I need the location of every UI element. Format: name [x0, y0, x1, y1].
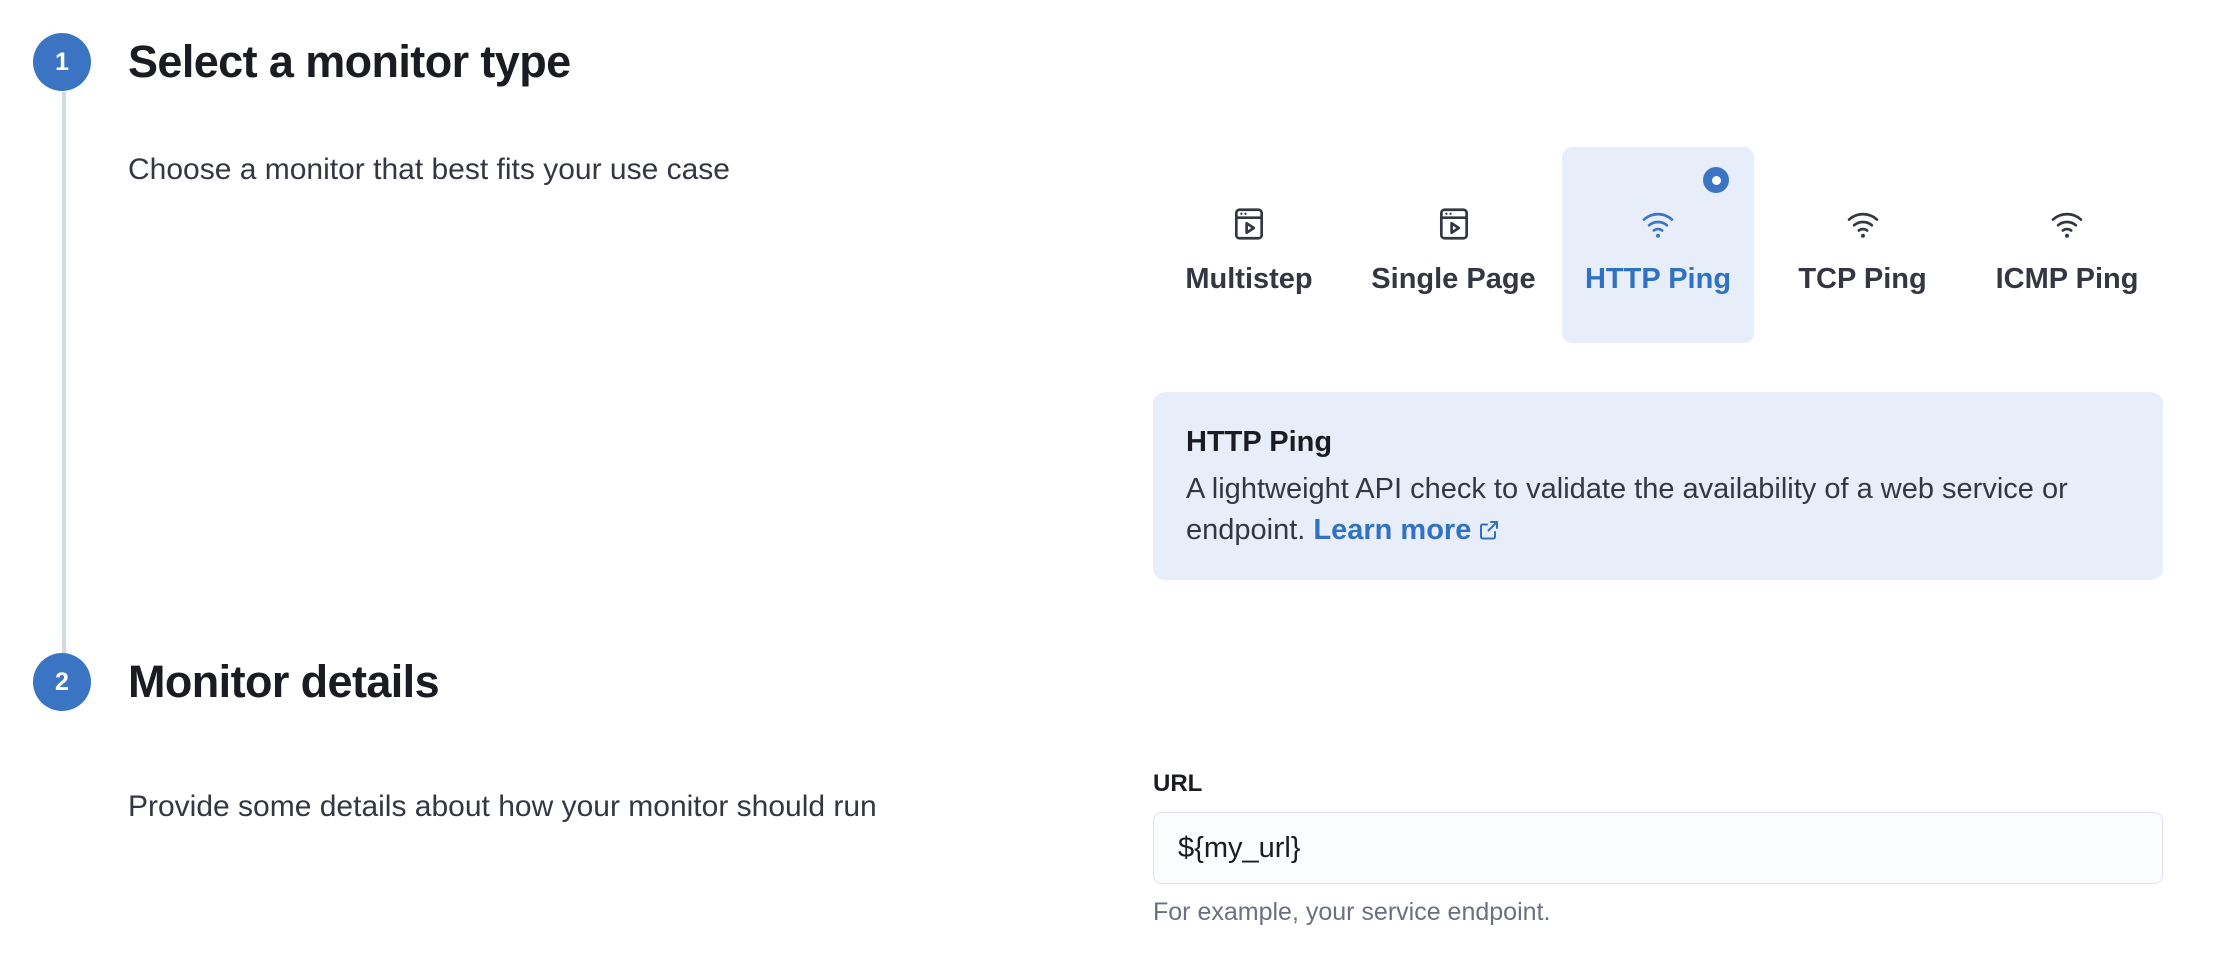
step-2-header: 2 Monitor details	[33, 653, 439, 711]
monitor-type-selector: Multistep Single Page	[1153, 147, 2163, 343]
step-1-header: 1 Select a monitor type	[33, 33, 571, 91]
monitor-type-card-icmp-ping[interactable]: ICMP Ping	[1971, 147, 2163, 343]
create-monitor-wizard: 1 Select a monitor type Choose a monitor…	[0, 0, 2218, 958]
url-field-group: URL ${my_url} For example, your service …	[1153, 772, 2163, 925]
step-2-badge: 2	[33, 653, 91, 711]
radio-indicator-http-ping[interactable]	[1703, 167, 1729, 193]
info-panel-title: HTTP Ping	[1186, 424, 2130, 462]
monitor-type-card-single-page[interactable]: Single Page	[1358, 147, 1550, 343]
step-1-description: Choose a monitor that best fits your use…	[128, 149, 730, 191]
monitor-type-card-http-ping[interactable]: HTTP Ping	[1562, 147, 1754, 343]
monitor-type-label-http-ping: HTTP Ping	[1585, 265, 1731, 294]
info-panel-body: A lightweight API check to validate the …	[1186, 469, 2130, 551]
step-1-title: Select a monitor type	[128, 33, 571, 91]
browser-play-icon	[1435, 205, 1473, 243]
external-link-icon[interactable]	[1477, 513, 1501, 537]
url-field-label: URL	[1153, 772, 2163, 796]
monitor-type-card-multistep[interactable]: Multistep	[1153, 147, 1345, 343]
stepper-connector-line	[62, 92, 66, 692]
wifi-ping-icon	[1844, 205, 1882, 243]
browser-play-icon	[1230, 205, 1268, 243]
monitor-type-label-tcp-ping: TCP Ping	[1798, 265, 1926, 294]
step-2-title: Monitor details	[128, 653, 439, 711]
url-input[interactable]: ${my_url}	[1153, 812, 2163, 884]
wifi-ping-icon	[1639, 205, 1677, 243]
step-2-description: Provide some details about how your moni…	[128, 786, 877, 828]
learn-more-link[interactable]: Learn more	[1313, 514, 1471, 546]
monitor-type-info-panel: HTTP Ping A lightweight API check to val…	[1153, 392, 2163, 580]
url-field-help-text: For example, your service endpoint.	[1153, 900, 2163, 925]
monitor-type-label-single-page: Single Page	[1371, 265, 1535, 294]
monitor-type-label-icmp-ping: ICMP Ping	[1996, 265, 2139, 294]
wifi-ping-icon	[2048, 205, 2086, 243]
step-1-badge: 1	[33, 33, 91, 91]
monitor-type-card-tcp-ping[interactable]: TCP Ping	[1767, 147, 1959, 343]
monitor-type-label-multistep: Multistep	[1185, 265, 1312, 294]
